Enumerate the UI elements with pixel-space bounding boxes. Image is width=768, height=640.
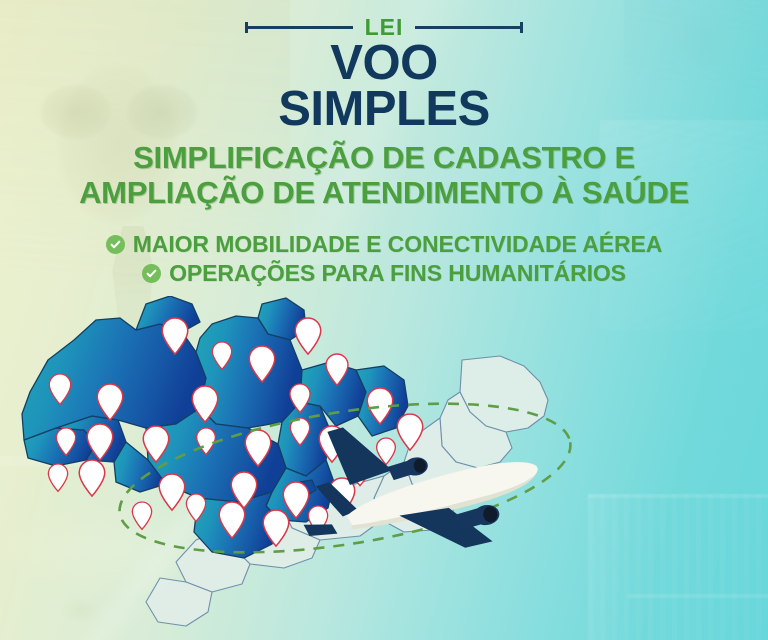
headline: SIMPLIFICAÇÃO DE CADASTRO E AMPLIAÇÃO DE… [0,140,768,211]
location-pin-icon [79,460,104,496]
headline-line-1: SIMPLIFICAÇÃO DE CADASTRO E [0,140,768,175]
logo-rule-right [415,26,523,29]
location-pin-icon [159,474,184,510]
list-item-label: OPERAÇÕES PARA FINS HUMANITÁRIOS [169,260,626,287]
list-item: OPERAÇÕES PARA FINS HUMANITÁRIOS [0,260,768,287]
check-circle-icon [142,264,161,283]
logo-line-voo: VOO [0,41,768,86]
logo-line-simples: SIMPLES [0,87,768,132]
list-item-label: MAIOR MOBILIDADE E CONECTIVIDADE AÉREA [133,231,662,258]
list-item: MAIOR MOBILIDADE E CONECTIVIDADE AÉREA [0,231,768,258]
benefits-list: MAIOR MOBILIDADE E CONECTIVIDADE AÉREA O… [0,231,768,289]
location-pin-icon [295,318,320,354]
logo-rule-left [245,26,353,29]
location-pin-icon [48,464,67,491]
headline-line-2: AMPLIAÇÃO DE ATENDIMENTO À SAÚDE [0,175,768,210]
location-pin-icon [132,502,151,529]
check-circle-icon [106,235,125,254]
logo-block: LEI VOO SIMPLES [0,14,768,132]
poster-root: LEI VOO SIMPLES SIMPLIFICAÇÃO DE CADASTR… [0,0,768,640]
artwork-illustration [0,296,768,640]
